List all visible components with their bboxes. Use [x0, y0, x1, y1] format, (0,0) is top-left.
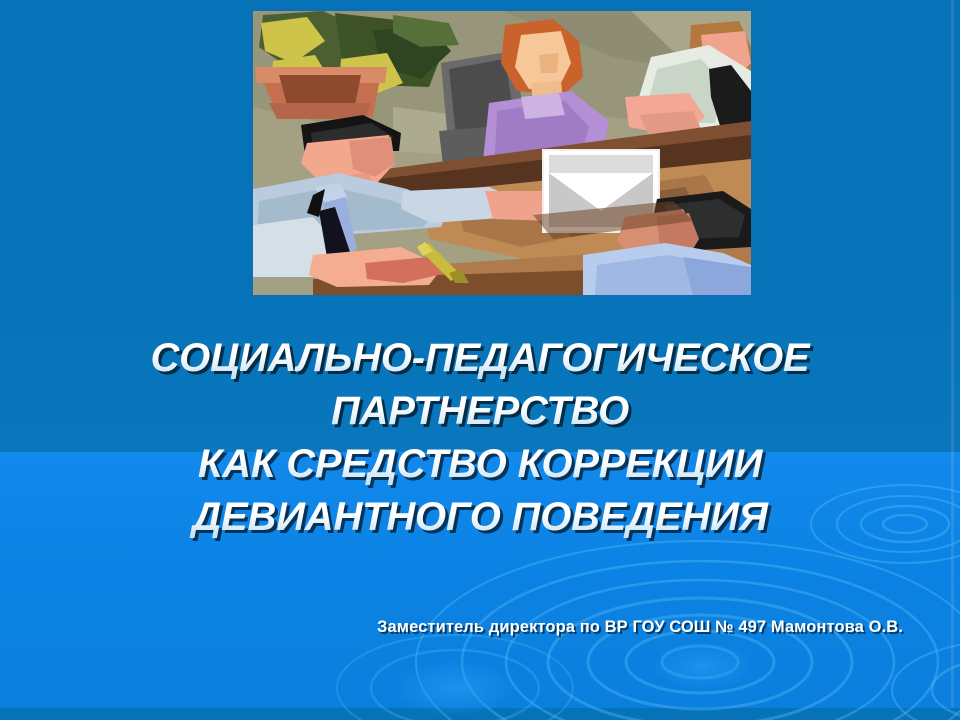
meeting-clipart-image: [250, 8, 754, 298]
background-footer-band: [0, 708, 960, 720]
slide-title: СОЦИАЛЬНО-ПЕДАГОГИЧЕСКОЕ ПАРТНЕРСТВО КАК…: [16, 332, 944, 544]
slide-right-edge-highlight: [951, 0, 954, 708]
presentation-slide: СОЦИАЛЬНО-ПЕДАГОГИЧЕСКОЕ ПАРТНЕРСТВО КАК…: [0, 0, 960, 720]
title-line-4: ДЕВИАНТНОГО ПОВЕДЕНИЯ: [16, 491, 944, 544]
title-line-3: КАК СРЕДСТВО КОРРЕКЦИИ: [16, 438, 944, 491]
title-line-1: СОЦИАЛЬНО-ПЕДАГОГИЧЕСКОЕ: [16, 332, 944, 385]
title-line-2: ПАРТНЕРСТВО: [16, 385, 944, 438]
author-line: Заместитель директора по ВР ГОУ СОШ № 49…: [340, 618, 940, 637]
